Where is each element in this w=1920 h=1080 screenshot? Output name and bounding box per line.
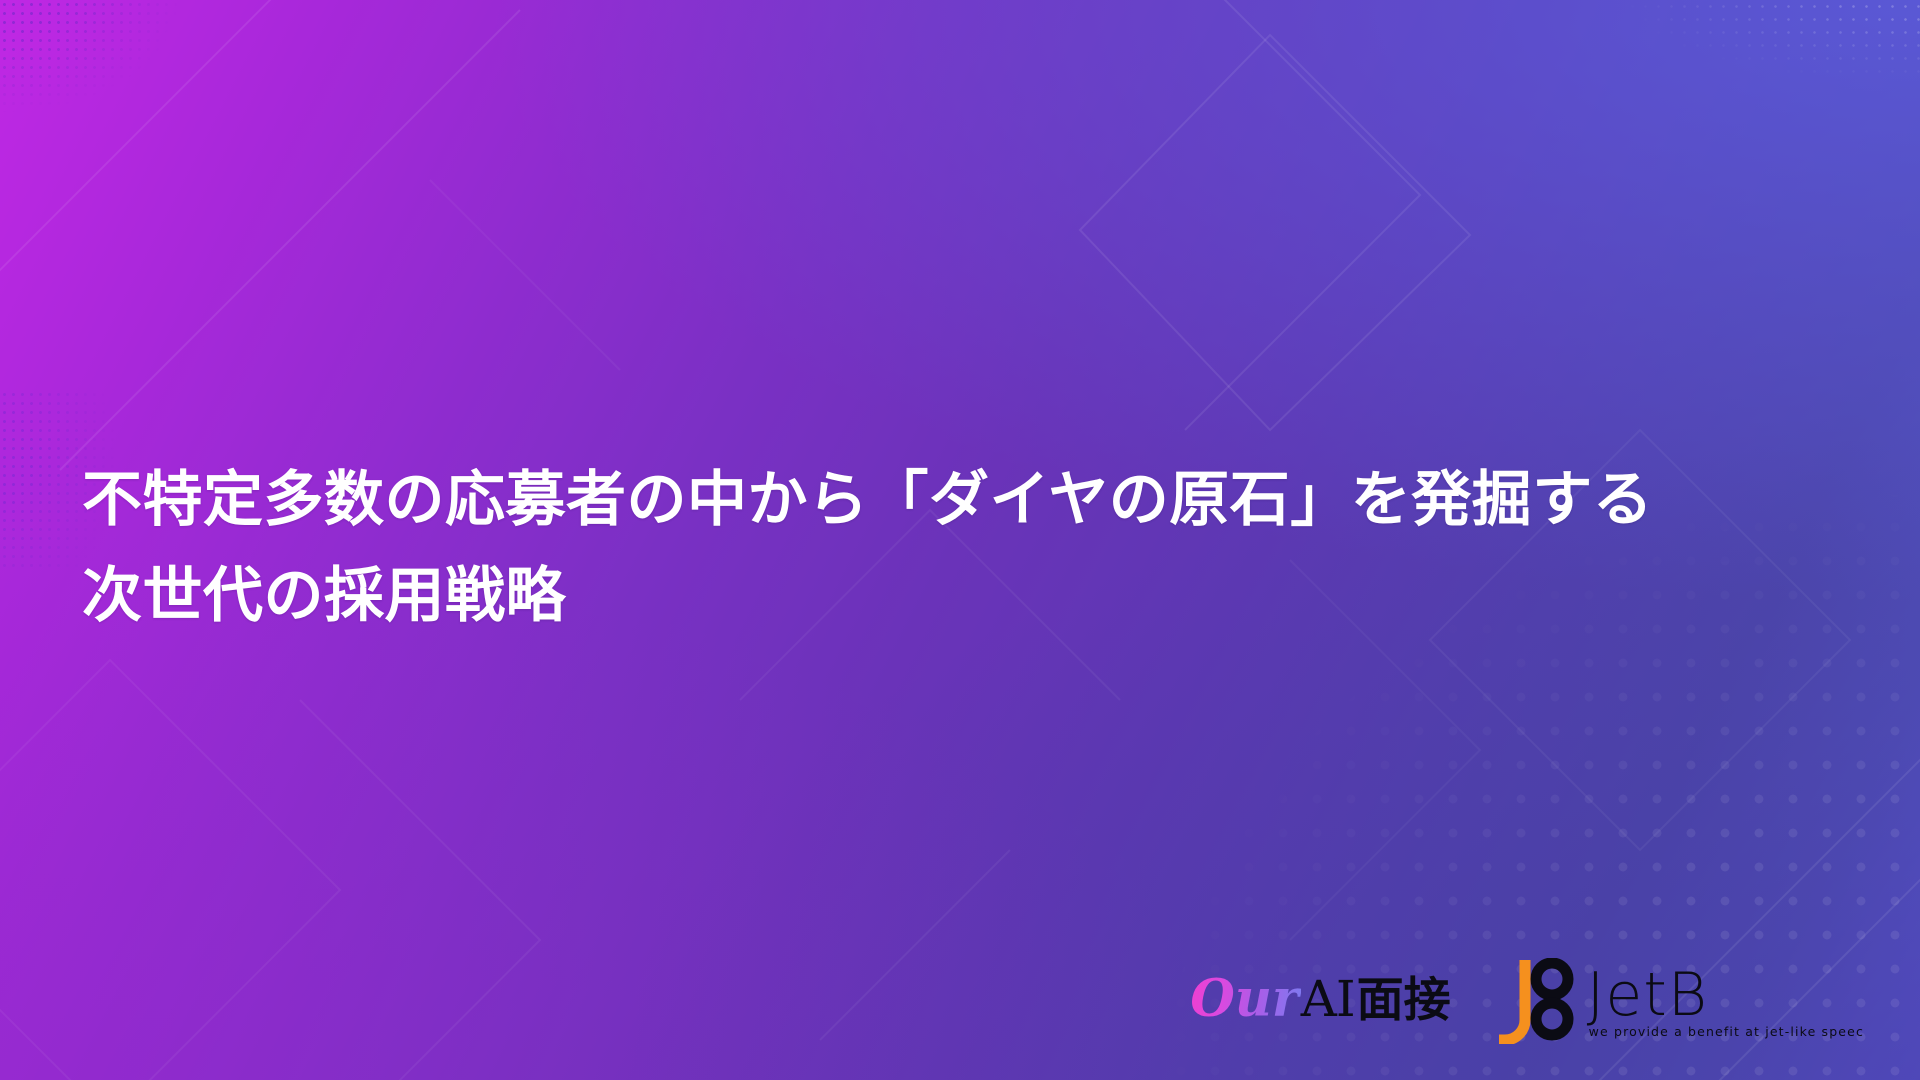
footer-logo-group: OurAI面接 JetB we provide a benefit at jet… — [1190, 954, 1864, 1044]
jetb-logo-mark-icon — [1497, 958, 1579, 1044]
dot-pattern-top-right — [1600, 0, 1920, 90]
jetb-logo-tagline: we provide a benefit at jet-like speec — [1589, 1024, 1864, 1039]
slide-title: 不特定多数の応募者の中から「ダイヤの原石」を発掘する 次世代の採用戦略 — [82, 452, 1502, 644]
jetb-logo-name: JetB — [1587, 964, 1864, 1026]
ourai-logo-ai-text: AI — [1301, 974, 1355, 1024]
title-line-1: 不特定多数の応募者の中から「ダイヤの原石」を発掘する — [82, 452, 1502, 548]
presentation-slide: 不特定多数の応募者の中から「ダイヤの原石」を発掘する 次世代の採用戦略 OurA… — [0, 0, 1920, 1080]
jetb-logo-wordmark: JetB we provide a benefit at jet-like sp… — [1587, 958, 1864, 1039]
dot-pattern-top-left — [0, 0, 190, 120]
ourai-logo-our-text: Our — [1190, 974, 1300, 1025]
ourai-logo-japanese-text: 面接 — [1357, 977, 1451, 1024]
title-line-2: 次世代の採用戦略 — [82, 548, 1502, 644]
ourai-logo: OurAI面接 — [1190, 974, 1450, 1025]
jetb-logo: JetB we provide a benefit at jet-like sp… — [1497, 954, 1864, 1044]
